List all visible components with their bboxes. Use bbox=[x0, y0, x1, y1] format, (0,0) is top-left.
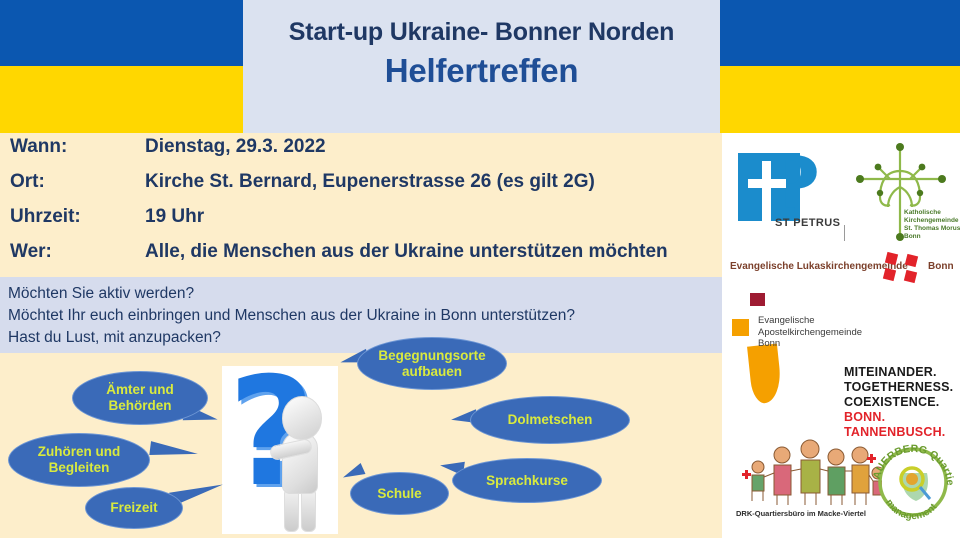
bubble-dolmetschen: Dolmetschen bbox=[470, 396, 630, 444]
auerberg-badge-icon: AUERBERG Quartiers management bbox=[870, 439, 956, 525]
miteinander-line-2: TOGETHERNESS. bbox=[844, 380, 960, 395]
detail-row: Wer: Alle, die Menschen aus der Ukraine … bbox=[10, 241, 716, 276]
question-line-3: Hast du Lust, mit anzupacken? bbox=[8, 327, 714, 349]
figure-leg-right bbox=[301, 488, 316, 532]
miteinander-line-1: MITEINANDER. bbox=[844, 365, 960, 380]
bubble-label: Schule bbox=[377, 486, 421, 502]
petrus-cross-vertical-icon bbox=[762, 161, 771, 223]
morus-line-2: Kirchengemeinde bbox=[904, 217, 960, 225]
family-figures-icon bbox=[736, 433, 882, 509]
morus-line-1: Katholische bbox=[904, 209, 960, 217]
bubble-label: Ämter und Behörden bbox=[81, 382, 199, 414]
apostel-swoosh-icon bbox=[747, 344, 783, 405]
bubble-zuhoren-und-begleiten: Zuhören und Begleiten bbox=[8, 433, 150, 487]
logo-label-lukas-bonn: Bonn bbox=[928, 261, 954, 272]
thinking-person-illustration: ? bbox=[222, 366, 338, 534]
detail-row: Ort: Kirche St. Bernard, Eupenerstrasse … bbox=[10, 171, 716, 206]
question-box: Möchten Sie aktiv werden? Möchtet Ihr eu… bbox=[0, 277, 722, 353]
logo-st-thomas-morus: Katholische Kirchengemeinde St. Thomas M… bbox=[850, 141, 954, 249]
detail-value-uhrzeit: 19 Uhr bbox=[145, 206, 204, 228]
logo-label-drk: DRK-Quartiersbüro im Macke-Viertel bbox=[736, 509, 866, 518]
detail-label-wann: Wann: bbox=[10, 136, 145, 158]
page-title-subtitle: Start-up Ukraine- Bonner Norden bbox=[289, 18, 675, 47]
svg-text:management: management bbox=[883, 498, 940, 523]
auerberg-arc-bottom-text: management bbox=[883, 498, 940, 523]
miteinander-line-4: BONN. bbox=[844, 410, 960, 425]
logo-apostelkirchengemeinde: Evangelische Apostelkirchengemeinde Bonn bbox=[732, 293, 912, 351]
event-details: Wann: Dienstag, 29.3. 2022 Ort: Kirche S… bbox=[10, 136, 716, 276]
logo-lukaskirchengemeinde: Evangelische Lukaskirchengemeinde Bonn bbox=[730, 253, 958, 287]
sidebar-divider bbox=[844, 225, 845, 241]
detail-row: Uhrzeit: 19 Uhr bbox=[10, 206, 716, 241]
logo-auerberg-quartiersmanagement: AUERBERG Quartiers management bbox=[870, 439, 956, 525]
morus-line-4: Bonn bbox=[904, 233, 960, 241]
lukas-diamond-icon bbox=[905, 254, 918, 267]
apostel-line-2: Apostelkirchengemeinde bbox=[758, 327, 862, 339]
logo-label-st-petrus: ST PETRUS bbox=[775, 217, 840, 229]
apostel-line-1: Evangelische bbox=[758, 315, 862, 327]
logo-label-apostel: Evangelische Apostelkirchengemeinde Bonn bbox=[758, 315, 862, 350]
figure-leg-left bbox=[284, 488, 299, 532]
detail-label-uhrzeit: Uhrzeit: bbox=[10, 206, 145, 228]
logo-miteinander-slogan: MITEINANDER. TOGETHERNESS. COEXISTENCE. … bbox=[844, 365, 960, 440]
petrus-cross-horizontal-icon bbox=[748, 179, 786, 188]
bubble-label: Zuhören und Begleiten bbox=[17, 444, 141, 476]
lukas-diamond-icon bbox=[904, 270, 917, 283]
question-line-1: Möchten Sie aktiv werden? bbox=[8, 283, 714, 305]
title-panel: Start-up Ukraine- Bonner Norden Helfertr… bbox=[243, 0, 720, 133]
question-line-2: Möchtet Ihr euch einbringen und Menschen… bbox=[8, 305, 714, 327]
bubble-label: Sprachkurse bbox=[486, 473, 568, 489]
poster-canvas: Start-up Ukraine- Bonner Norden Helfertr… bbox=[0, 0, 960, 538]
logo-label-thomas-morus: Katholische Kirchengemeinde St. Thomas M… bbox=[904, 209, 960, 241]
logo-st-petrus: P ST PETRUS bbox=[736, 147, 844, 245]
bubble-begegnungsorte-aufbauen: Begegnungsorte aufbauen bbox=[357, 337, 507, 390]
bubble-label: Begegnungsorte aufbauen bbox=[366, 348, 498, 380]
lukas-diamond-icon bbox=[883, 268, 896, 281]
bubble-label: Freizeit bbox=[110, 500, 157, 516]
page-title: Helfertreffen bbox=[385, 52, 579, 90]
bubble-freizeit: Freizeit bbox=[85, 487, 183, 529]
bubble-schule: Schule bbox=[350, 472, 449, 515]
apostel-red-square-icon bbox=[750, 293, 765, 306]
bubble-label: Dolmetschen bbox=[508, 412, 593, 428]
detail-value-wann: Dienstag, 29.3. 2022 bbox=[145, 136, 326, 158]
figure-head bbox=[282, 396, 322, 440]
apostel-line-3: Bonn bbox=[758, 338, 862, 350]
morus-line-3: St. Thomas Morus bbox=[904, 225, 960, 233]
bubble-sprachkurse: Sprachkurse bbox=[452, 458, 602, 503]
bubble-amter-und-behorden: Ämter und Behörden bbox=[72, 371, 208, 425]
logo-label-lukas: Evangelische Lukaskirchengemeinde bbox=[730, 261, 908, 272]
detail-label-ort: Ort: bbox=[10, 171, 145, 193]
detail-row: Wann: Dienstag, 29.3. 2022 bbox=[10, 136, 716, 171]
detail-value-wer: Alle, die Menschen aus der Ukraine unter… bbox=[145, 241, 668, 263]
partner-logo-sidebar: P ST PETRUS bbox=[722, 133, 960, 538]
apostel-orange-square-icon bbox=[732, 319, 749, 336]
miteinander-line-3: COEXISTENCE. bbox=[844, 395, 960, 410]
detail-value-ort: Kirche St. Bernard, Eupenerstrasse 26 (e… bbox=[145, 171, 595, 193]
logo-drk-quartiersbuero: DRK-Quartiersbüro im Macke-Viertel bbox=[736, 433, 882, 527]
detail-label-wer: Wer: bbox=[10, 241, 145, 263]
